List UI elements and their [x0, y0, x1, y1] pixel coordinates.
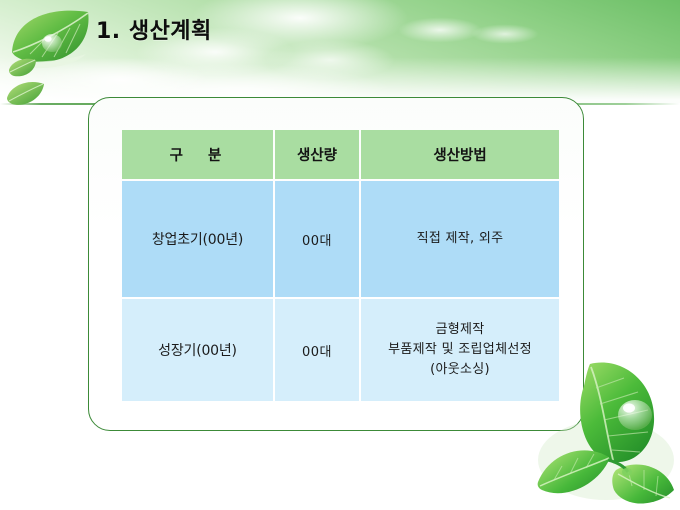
- cell-category-growth: 성장기(00년): [122, 299, 273, 401]
- method-line: (아웃소싱): [365, 360, 555, 380]
- column-header-quantity: 생산량: [275, 130, 359, 179]
- slide-canvas: 1. 생산계획 구 분 생산량 생산방법 창업초기(00년) 00대 직접 제작…: [0, 0, 680, 510]
- production-plan-table: 구 분 생산량 생산방법 창업초기(00년) 00대 직접 제작, 외주 성장기…: [120, 128, 561, 403]
- mint-leaves-with-dewdrop-icon: [528, 348, 680, 510]
- table-header-row: 구 분 생산량 생산방법: [122, 130, 559, 179]
- cell-category-startup: 창업초기(00년): [122, 181, 273, 297]
- table-row: 성장기(00년) 00대 금형제작 부품제작 및 조립업체선정 (아웃소싱): [122, 299, 559, 401]
- method-line: 부품제작 및 조립업체선정: [365, 340, 555, 360]
- method-line: 금형제작: [365, 320, 555, 340]
- table-row: 창업초기(00년) 00대 직접 제작, 외주: [122, 181, 559, 297]
- column-header-category: 구 분: [122, 130, 273, 179]
- method-line: 직접 제작, 외주: [365, 229, 555, 249]
- column-header-method: 생산방법: [361, 130, 559, 179]
- leaf-with-dewdrop-icon: [2, 2, 106, 118]
- cell-quantity-startup: 00대: [275, 181, 359, 297]
- cell-quantity-growth: 00대: [275, 299, 359, 401]
- cell-method-startup: 직접 제작, 외주: [361, 181, 559, 297]
- page-title: 1. 생산계획: [96, 13, 212, 45]
